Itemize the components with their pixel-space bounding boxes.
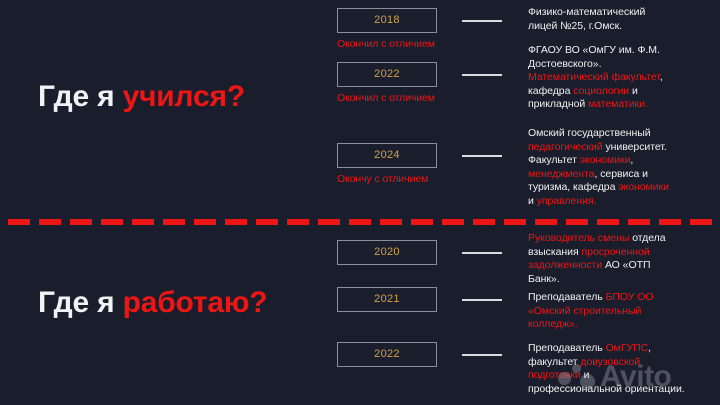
connector-line [462,299,502,301]
heading-work-accent: работаю? [123,286,268,319]
year-box-2020[interactable]: 2020 [337,240,437,265]
connector-line [462,20,502,22]
entry-description-2020: Руководитель смены отделавзыскания проср… [528,232,720,286]
heading-study-accent: учился? [123,80,245,113]
connector-line [462,252,502,254]
heading-study-plain: Где я [38,80,123,113]
year-box-2022-omgups[interactable]: 2022 [337,342,437,367]
entry-description-2022-omgups: Преподаватель ОмГУПС,факультет довузовск… [528,342,720,396]
year-box-2018[interactable]: 2018 [337,8,437,33]
section-divider [8,219,712,225]
year-box-2021[interactable]: 2021 [337,287,437,312]
year-box-2022-omgu[interactable]: 2022 [337,62,437,87]
entry-description-2024: Омский государственныйпедагогический уни… [528,127,720,208]
page-title-work: Где я работаю? [38,288,267,318]
year-box-2024[interactable]: 2024 [337,143,437,168]
entry-description-2022-omgu: ФГАОУ ВО «ОмГУ им. Ф.М.Достоевского».Мат… [528,44,720,112]
year-label: 2020 [338,241,436,264]
connector-line [462,354,502,356]
year-label: 2024 [338,144,436,167]
page-title-study: Где я учился? [38,82,245,112]
year-note-2022-omgu: Окончил с отличием [337,92,477,104]
year-note-2018: Окончил с отличием [337,38,477,50]
year-label: 2022 [338,343,436,366]
year-label: 2022 [338,63,436,86]
entry-description-2021: Преподаватель БПОУ ОО«Омский строительны… [528,291,720,332]
heading-work-plain: Где я [38,286,123,319]
connector-line [462,74,502,76]
slide-canvas: Где я учился? Где я работаю? 2018 Окончи… [0,0,720,405]
connector-line [462,155,502,157]
year-note-2024: Окончу с отличием [337,173,477,185]
entry-description-2018: Физико-математическийлицей №25, г.Омск. [528,6,720,33]
year-label: 2018 [338,9,436,32]
year-label: 2021 [338,288,436,311]
